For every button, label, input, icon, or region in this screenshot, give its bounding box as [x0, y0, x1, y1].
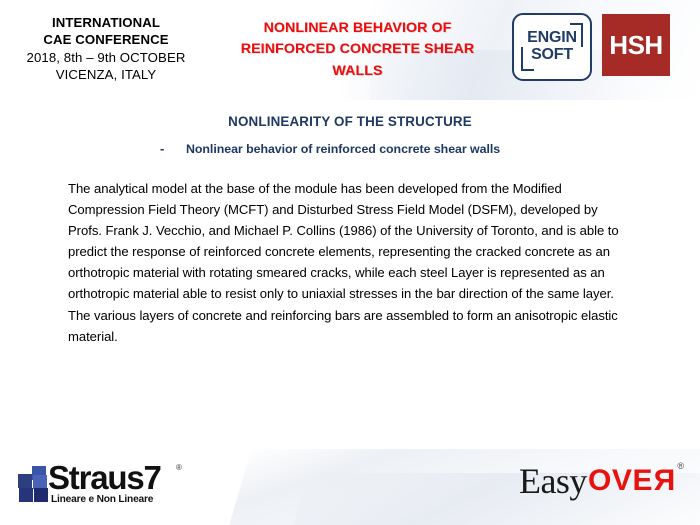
bullet-marker-icon: - — [160, 141, 186, 156]
presentation-title: NONLINEAR BEHAVIOR OF REINFORCED CONCRET… — [215, 18, 500, 82]
enginsoft-logo-text: ENGIN SOFT — [514, 15, 590, 79]
slide-header: INTERNATIONAL CAE CONFERENCE 2018, 8th –… — [0, 0, 700, 100]
section-heading: NONLINEARITY OF THE STRUCTURE — [0, 114, 700, 129]
straus7-square — [18, 474, 32, 488]
easyover-registered-mark: ® — [677, 461, 684, 471]
conference-line-1: INTERNATIONAL — [6, 14, 206, 31]
easyover-logo-easy-text: Easy — [519, 463, 587, 499]
straus7-square — [19, 488, 33, 502]
enginsoft-logo-line-2: SOFT — [531, 47, 573, 64]
conference-line-3: 2018, 8th – 9th OCTOBER — [6, 49, 206, 66]
slide-footer: Straus7 ® Lineare e Non Lineare Easy OVE… — [0, 443, 700, 525]
conference-info: INTERNATIONAL CAE CONFERENCE 2018, 8th –… — [6, 14, 206, 84]
straus7-squares-icon — [18, 466, 52, 500]
easyover-logo-over-text: OVER — [588, 466, 675, 496]
easyover-logo: Easy OVER ® — [519, 457, 684, 505]
enginsoft-logo-line-1: ENGIN — [527, 30, 577, 47]
straus7-logo-text: Straus7 — [48, 461, 161, 494]
straus7-registered-mark: ® — [176, 463, 182, 472]
presentation-slide: INTERNATIONAL CAE CONFERENCE 2018, 8th –… — [0, 0, 700, 525]
hsh-logo: HSH — [602, 14, 670, 76]
conference-line-2: CAE CONFERENCE — [6, 31, 206, 48]
easyover-over-mirrored-r: R — [653, 466, 675, 496]
bullet-item: - Nonlinear behavior of reinforced concr… — [160, 141, 500, 156]
straus7-square — [33, 475, 47, 489]
bullet-item-label: Nonlinear behavior of reinforced concret… — [186, 142, 500, 156]
straus7-square — [34, 488, 48, 502]
straus7-logo: Straus7 ® Lineare e Non Lineare — [18, 461, 233, 509]
straus7-tagline: Lineare e Non Lineare — [51, 494, 153, 505]
easyover-over-main: OVE — [588, 464, 653, 497]
hsh-logo-text: HSH — [609, 30, 662, 61]
conference-line-4: VICENZA, ITALY — [6, 66, 206, 83]
enginsoft-logo: ENGIN SOFT — [512, 13, 592, 81]
body-paragraph: The analytical model at the base of the … — [68, 178, 628, 347]
